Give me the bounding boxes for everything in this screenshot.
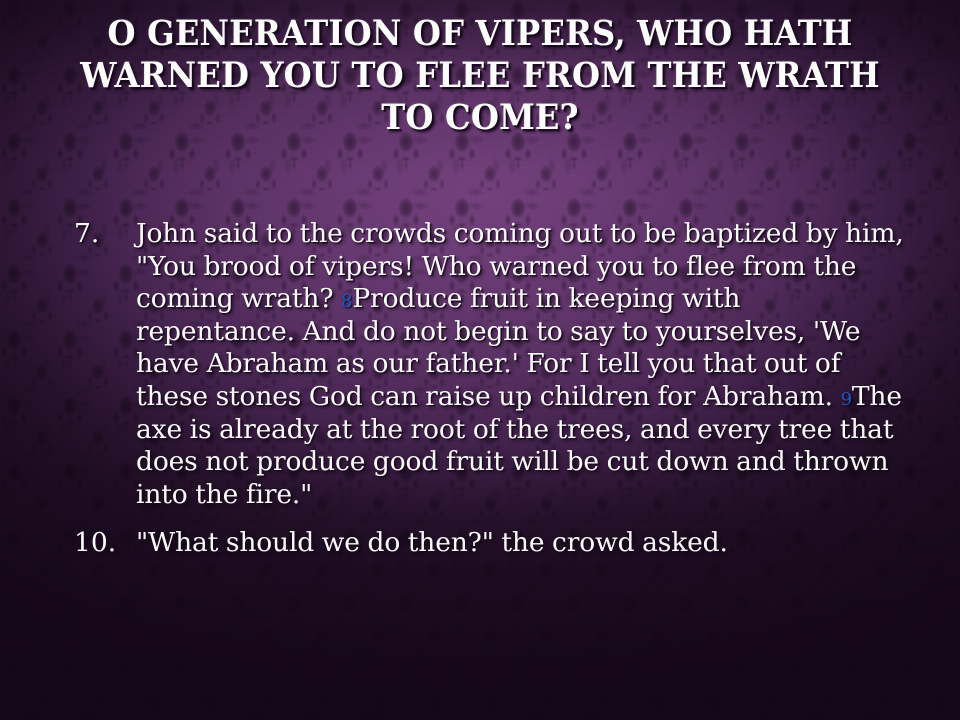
list-item-number: 7. — [74, 218, 136, 251]
slide-title: O Generation of Vipers, who hath warned … — [59, 13, 902, 139]
list-item: 10."What should we do then?" the crowd a… — [74, 527, 904, 560]
verse-number-marker: 8 — [341, 291, 352, 312]
list-item-text: "What should we do then?" the crowd aske… — [136, 527, 904, 560]
slide-content: O Generation of Vipers, who hath warned … — [0, 0, 960, 720]
presentation-slide: O Generation of Vipers, who hath warned … — [0, 0, 960, 720]
list-item-number: 10. — [74, 527, 136, 560]
title-block: O Generation of Vipers, who hath warned … — [22, 13, 938, 139]
text-run: "What should we do then?" the crowd aske… — [136, 527, 728, 558]
list-item-text: John said to the crowds coming out to be… — [136, 218, 904, 511]
verse-number-marker: 9 — [841, 389, 852, 410]
body-list: 7. John said to the crowds coming out to… — [74, 218, 904, 560]
list-item: 7. John said to the crowds coming out to… — [74, 218, 904, 511]
